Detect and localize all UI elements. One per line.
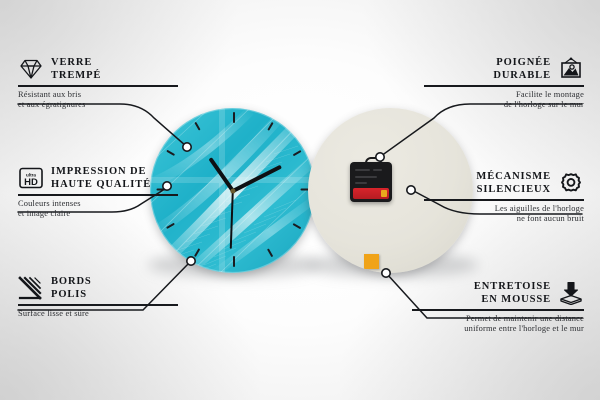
infographic-canvas: VERRE TREMPÉ Résistant aux bris et aux é…	[0, 0, 600, 400]
feature-impression-haute-qualite: ultra HD IMPRESSION DE HAUTE QUALITÉ Cou…	[18, 165, 178, 219]
feature-desc-line-2: et aux égratignures	[18, 100, 178, 110]
feature-desc-line-1: Couleurs intenses	[18, 199, 178, 209]
feature-desc-line-2: uniforme entre l'horloge et le mur	[412, 324, 584, 334]
polished-edges-icon	[18, 276, 44, 300]
feature-desc-line-1: Facilite le montage	[424, 90, 584, 100]
feature-title-line-2: POLIS	[51, 288, 92, 301]
feature-mecanisme-silencieux: MÉCANISME SILENCIEUX Les aiguilles de l'…	[424, 170, 584, 224]
feature-desc-line-2: ne font aucun bruit	[424, 214, 584, 224]
feature-bords-polis: BORDS POLIS Surface lisse et sûre	[18, 275, 178, 319]
feature-divider	[424, 199, 584, 201]
feature-divider	[18, 85, 178, 87]
feature-poignee-durable: POIGNÉE DURABLE Facilite le montage de l…	[424, 56, 584, 110]
feature-title-line-1: MÉCANISME	[476, 170, 551, 183]
ultra-hd-icon: ultra HD	[18, 166, 44, 190]
feature-title-line-2: DURABLE	[493, 69, 551, 82]
feature-divider	[424, 85, 584, 87]
connector-dot-verre-trempe	[183, 143, 191, 151]
connector-dot-bords-polis	[187, 257, 195, 265]
feature-verre-trempe: VERRE TREMPÉ Résistant aux bris et aux é…	[18, 56, 178, 110]
feature-title-line-2: EN MOUSSE	[474, 293, 551, 306]
wire-poignee	[381, 104, 582, 156]
feature-divider	[412, 309, 584, 311]
gear-icon	[558, 171, 584, 195]
feature-divider	[18, 194, 178, 196]
feature-title-line-1: IMPRESSION DE	[51, 165, 151, 178]
feature-desc-line-2: et image claire	[18, 209, 178, 219]
feature-divider	[18, 304, 178, 306]
feature-desc-line-1: Résistant aux bris	[18, 90, 178, 100]
connector-dot-entretoise	[382, 269, 390, 277]
feature-title-line-1: POIGNÉE	[493, 56, 551, 69]
feature-desc-line-1: Surface lisse et sûre	[18, 309, 178, 319]
feature-title-line-1: BORDS	[51, 275, 92, 288]
connector-dot-mecanisme	[407, 186, 415, 194]
feature-desc-line-1: Les aiguilles de l'horloge	[424, 204, 584, 214]
foam-spacer-icon	[558, 281, 584, 305]
feature-title-line-2: TREMPÉ	[51, 69, 101, 82]
feature-title-line-2: SILENCIEUX	[476, 183, 551, 196]
feature-entretoise-en-mousse: ENTRETOISE EN MOUSSE Permet de maintenir…	[412, 280, 584, 334]
connector-dot-poignee	[376, 153, 384, 161]
feature-title-line-1: VERRE	[51, 56, 101, 69]
feature-title-line-2: HAUTE QUALITÉ	[51, 178, 151, 191]
framed-picture-icon	[558, 57, 584, 81]
feature-title-line-1: ENTRETOISE	[474, 280, 551, 293]
feature-desc-line-2: de l'horloge sur le mur	[424, 100, 584, 110]
feature-desc-line-1: Permet de maintenir une distance	[412, 314, 584, 324]
wire-verre-trempe	[18, 104, 186, 146]
ultra-hd-icon-large-text: HD	[24, 177, 38, 188]
diamond-icon	[18, 57, 44, 81]
